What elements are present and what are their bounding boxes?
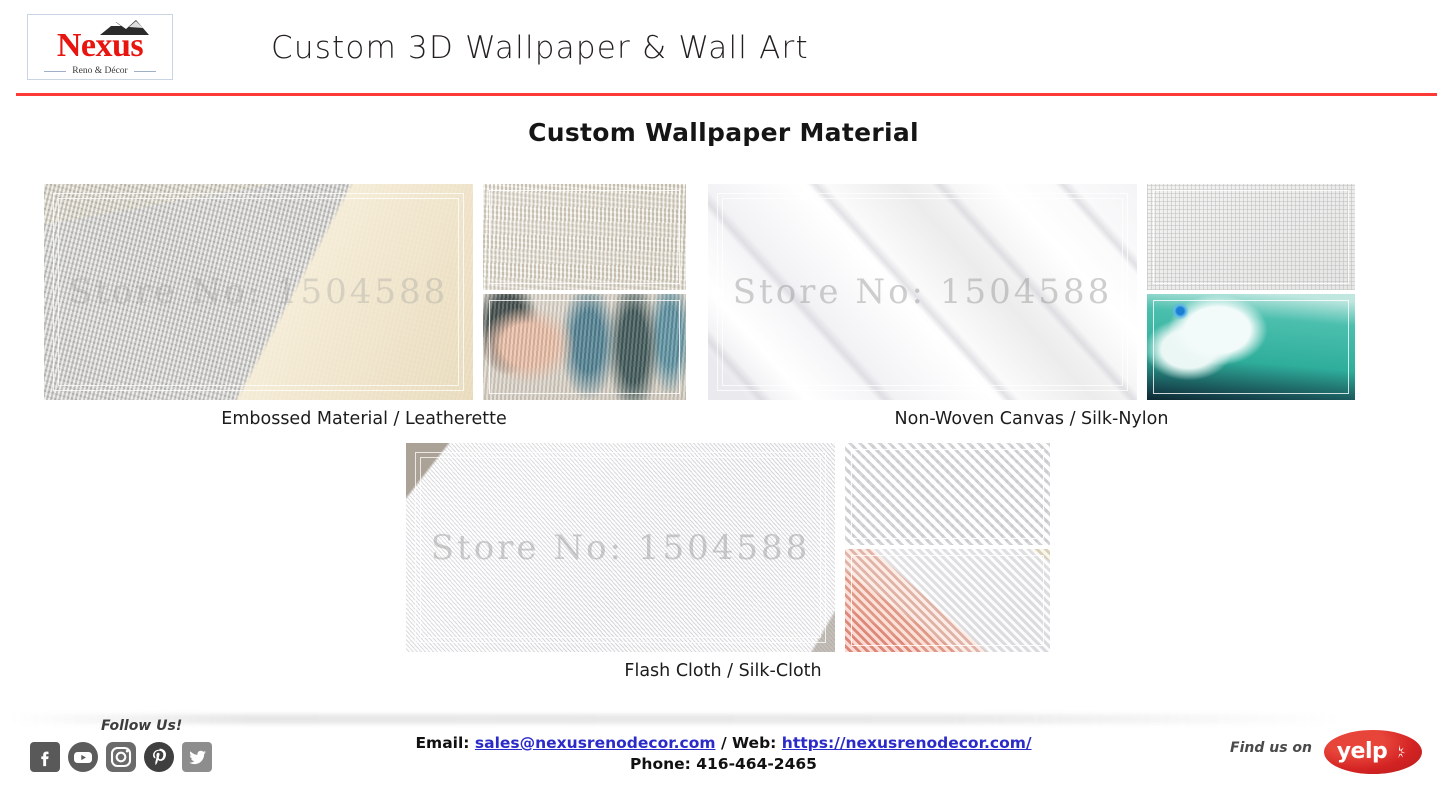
yelp-burst-icon [1389,742,1409,762]
contact-separator: / [721,734,727,752]
email-link[interactable]: sales@nexusrenodecor.com [475,734,716,752]
yelp-wordmark: yelp [1337,741,1388,763]
web-label: Web: [732,734,776,752]
nonwoven-main-image[interactable]: Store No: 1504588 [708,184,1137,400]
footer-divider [10,714,1340,724]
nonwoven-mesh-closeup[interactable] [1147,184,1355,290]
embossed-texture-closeup[interactable] [483,184,686,290]
flashcloth-texture-closeup[interactable] [845,443,1050,545]
flashcloth-printed-pattern[interactable] [845,549,1050,652]
image-watermark: Store No: 1504588 [406,528,835,568]
embossed-side-images [483,184,686,400]
embossed-printed-pattern[interactable] [483,294,686,400]
logo-rule-right [134,71,156,72]
logo[interactable]: Nexus Reno & Décor [27,14,173,80]
embossed-main-image[interactable]: Store No: 1504588 [44,184,473,400]
flashcloth-main-image[interactable]: Store No: 1504588 [406,443,835,652]
material-panel-embossed[interactable]: Store No: 1504588 [44,184,686,400]
follow-us-label: Follow Us! [101,718,182,734]
flashcloth-side-images [845,443,1050,652]
page-title: Custom 3D Wallpaper & Wall Art [271,30,809,66]
material-panel-flashcloth[interactable]: Store No: 1504588 [406,443,1050,652]
website-link[interactable]: https://nexusrenodecor.com/ [782,734,1032,752]
nonwoven-side-images [1147,184,1355,400]
logo-tagline: Reno & Décor [72,66,127,76]
page-header: Nexus Reno & Décor Custom 3D Wallpaper &… [0,0,1447,95]
email-label: Email: [415,734,469,752]
caption-embossed: Embossed Material / Leatherette [44,409,684,429]
image-watermark: Store No: 1504588 [708,272,1137,312]
section-title: Custom Wallpaper Material [0,118,1447,147]
caption-flashcloth: Flash Cloth / Silk-Cloth [406,661,1040,681]
material-panel-nonwoven[interactable]: Store No: 1504588 [708,184,1355,400]
image-watermark: Store No: 1504588 [44,272,473,312]
find-us-on-label: Find us on [1230,740,1312,756]
yelp-badge[interactable]: yelp [1324,730,1422,774]
logo-rule-left [44,71,66,72]
nonwoven-floral-print[interactable] [1147,294,1355,400]
logo-tagline-row: Reno & Décor [28,66,172,76]
phone-line: Phone: 416-464-2465 [0,754,1447,775]
header-divider [16,93,1437,96]
logo-wordmark: Nexus [28,27,172,65]
caption-nonwoven: Non-Woven Canvas / Silk-Nylon [708,409,1355,429]
